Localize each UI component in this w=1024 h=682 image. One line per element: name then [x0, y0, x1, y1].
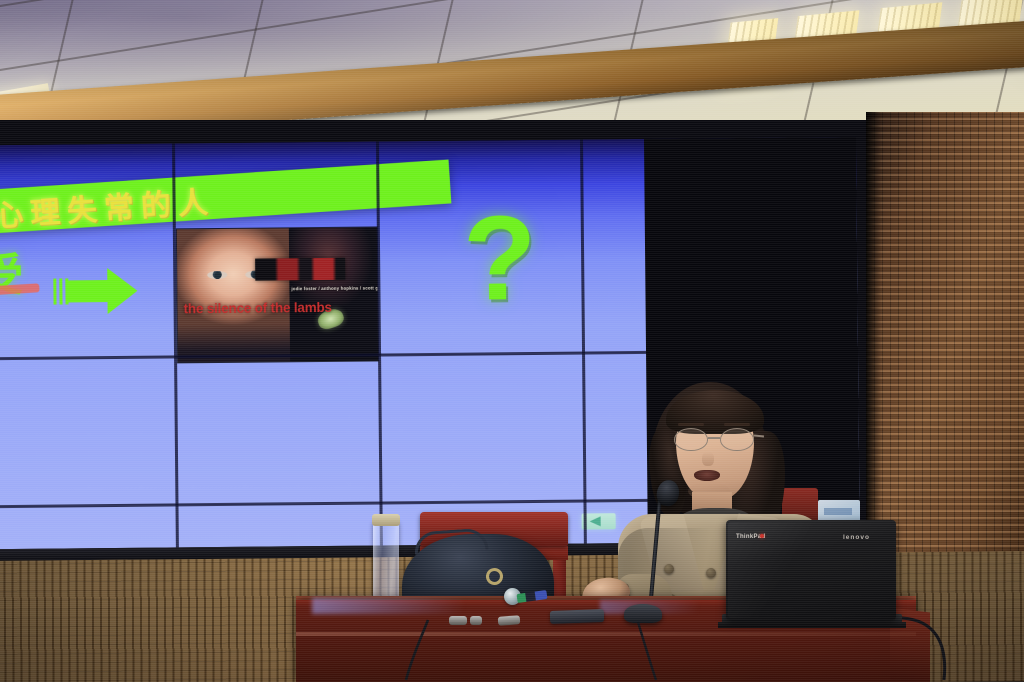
smartphone: [550, 609, 604, 624]
poster-sunglasses-strip: [255, 258, 345, 281]
laptop-foot: [718, 622, 906, 628]
thinkpad-logo-dot-icon: [760, 534, 764, 538]
poster-credits: jodie foster / anthony hopkins / scott g…: [291, 285, 375, 291]
presenter-glasses-icon: [672, 428, 760, 452]
desk-cable: [400, 618, 540, 682]
lecture-hall-scene: 受 jodie foster / anthony hopkins / scott…: [0, 0, 1024, 682]
presenter-nose: [702, 452, 714, 466]
slide-title-banner: 研究心理失常的人: [0, 160, 451, 240]
water-bottle-cap: [372, 514, 400, 526]
poster-dark-half: [289, 227, 378, 361]
desk-reflection: [312, 598, 492, 614]
lenovo-logo: lenovo: [843, 534, 870, 541]
poster-face-half: [177, 228, 290, 362]
handheld-microphone: [504, 588, 521, 605]
right-wall-shadow: [866, 112, 882, 582]
desk-cable: [620, 620, 740, 682]
desk-edge-highlight: [296, 632, 916, 636]
laptop-power-cable: [900, 612, 1020, 682]
poster-title: the silence of the lambs: [184, 300, 374, 317]
movie-poster-image: jodie foster / anthony hopkins / scott g…: [177, 227, 378, 362]
green-right-arrow-icon: [51, 268, 137, 315]
right-perforated-wall-panel: [866, 112, 1024, 582]
question-mark-glyph: ?: [463, 198, 537, 319]
presenter-mouth: [694, 470, 720, 481]
